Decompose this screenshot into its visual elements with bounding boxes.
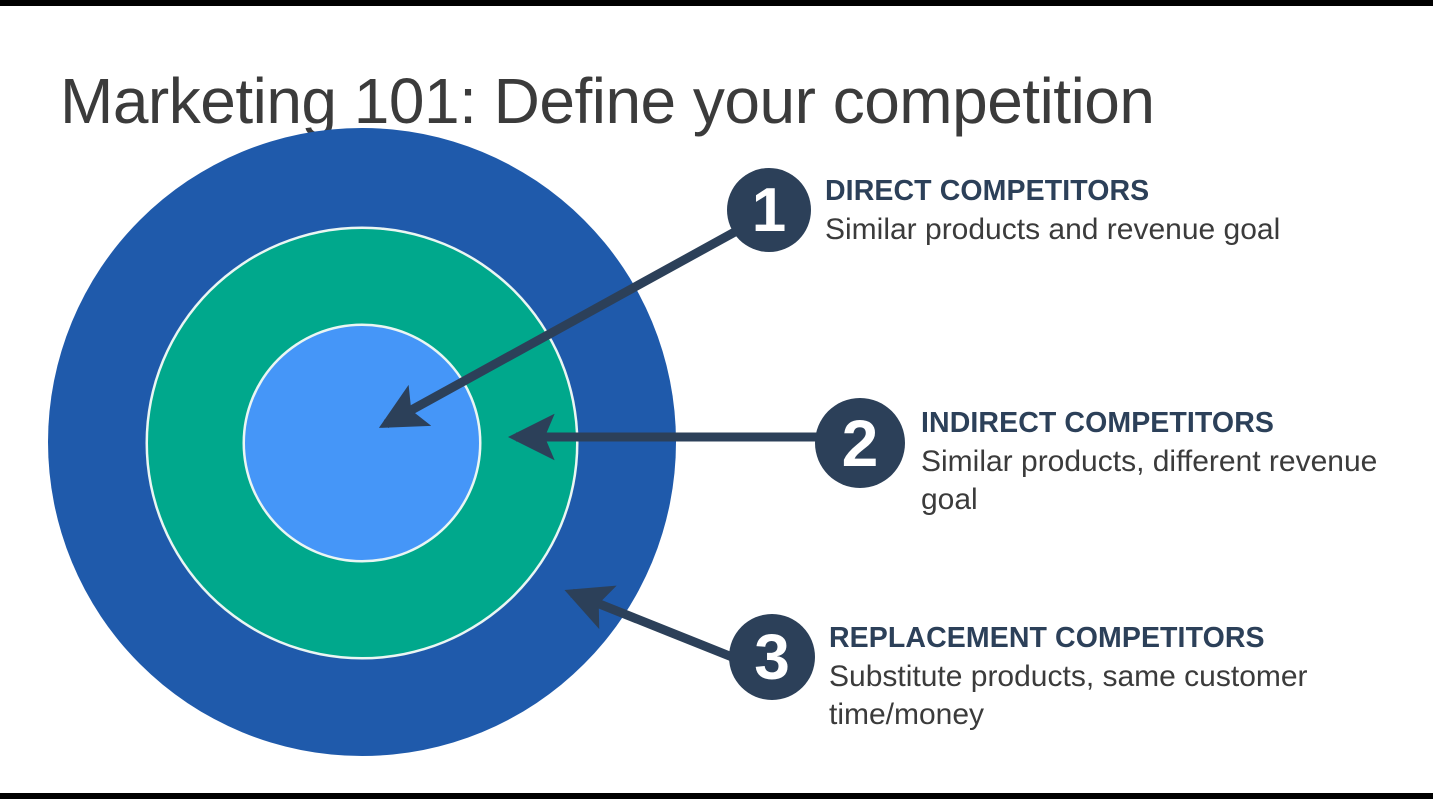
badge-number-2: 2 (815, 398, 905, 488)
callout-body-3: Substitute products, same customer time/… (829, 658, 1389, 735)
callout-replacement-competitors: 3 REPLACEMENT COMPETITORS Substitute pro… (729, 614, 1389, 735)
slide-canvas: Marketing 101: Define your competition 1… (0, 0, 1433, 799)
callout-body-1: Similar products and revenue goal (825, 211, 1280, 249)
callout-text-1: DIRECT COMPETITORS Similar products and … (825, 168, 1280, 249)
badge-number-3: 3 (729, 614, 815, 700)
callout-body-2: Similar products, different revenue goal (921, 443, 1433, 520)
concentric-target-diagram (0, 0, 740, 799)
callout-heading-2: INDIRECT COMPETITORS (921, 408, 1433, 440)
callout-direct-competitors: 1 DIRECT COMPETITORS Similar products an… (727, 168, 1280, 252)
callout-text-3: REPLACEMENT COMPETITORS Substitute produ… (829, 614, 1389, 735)
callout-text-2: INDIRECT COMPETITORS Similar products, d… (921, 398, 1433, 520)
ring-direct-competitors (245, 326, 479, 560)
callout-heading-1: DIRECT COMPETITORS (825, 176, 1280, 208)
callout-heading-3: REPLACEMENT COMPETITORS (829, 623, 1389, 655)
callout-indirect-competitors: 2 INDIRECT COMPETITORS Similar products,… (815, 398, 1433, 520)
badge-number-1: 1 (727, 168, 811, 252)
